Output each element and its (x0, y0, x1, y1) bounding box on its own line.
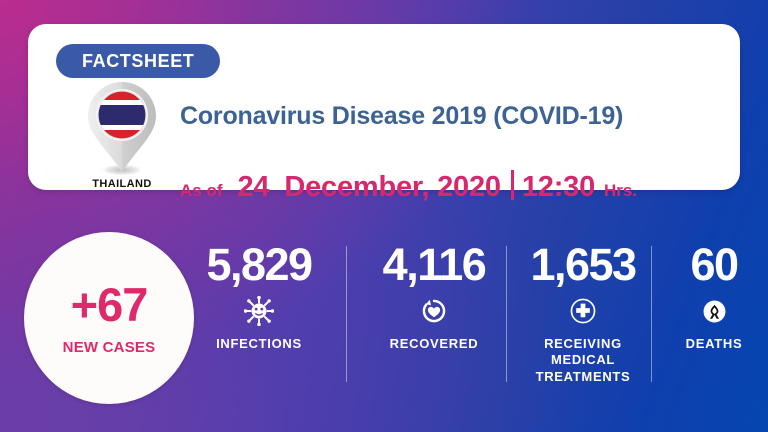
statistics-row: +67 NEW CASES 5,829 (0, 228, 768, 418)
as-of-suffix: Hrs. (604, 181, 637, 201)
stat-infections-label: INFECTIONS (216, 336, 302, 352)
divider-2 (506, 246, 507, 382)
stat-deaths-value: 60 (690, 242, 737, 287)
new-cases-badge: +67 NEW CASES (24, 232, 194, 404)
as-of-prefix: As of (180, 181, 223, 201)
map-pin-shape (76, 80, 168, 180)
factsheet-infographic: FACTSHEET (0, 0, 768, 432)
stat-treatments-label: RECEIVINGMEDICALTREATMENTS (536, 336, 631, 385)
heart-recovery-icon (420, 296, 448, 326)
factsheet-badge: FACTSHEET (56, 44, 220, 78)
thailand-flag-pin-icon: THAILAND (76, 80, 168, 200)
page-title: Coronavirus Disease 2019 (COVID-19) (180, 102, 623, 131)
stat-receiving-medical-treatments: 1,653 RECEIVINGMEDICALTREATMENTS (518, 242, 648, 385)
as-of-time: 12:30 (522, 171, 595, 204)
as-of-dateline: As of 24 December, 2020 12:30 Hrs. (180, 166, 637, 204)
country-label: THAILAND (76, 178, 168, 190)
new-cases-value: +67 (71, 281, 148, 328)
stat-recovered: 4,116 RECOVERED (375, 242, 493, 352)
as-of-month-year: December, 2020 (284, 171, 500, 204)
as-of-day: 24 (238, 171, 270, 204)
medical-cross-icon (569, 296, 597, 326)
dateline-separator (511, 170, 514, 200)
stat-infections-value: 5,829 (206, 242, 311, 287)
stat-recovered-label: RECOVERED (390, 336, 479, 352)
stat-infections: 5,829 (200, 242, 318, 352)
new-cases-label: NEW CASES (63, 339, 156, 356)
mourning-ribbon-icon (701, 296, 728, 326)
header-card: FACTSHEET (28, 24, 740, 190)
stat-deaths-label: DEATHS (686, 336, 743, 352)
stat-deaths: 60 DEATHS (660, 242, 768, 352)
divider-1 (346, 246, 347, 382)
stat-treatments-value: 1,653 (530, 242, 635, 287)
virus-icon (244, 296, 274, 326)
stat-recovered-value: 4,116 (383, 242, 486, 287)
divider-3 (651, 246, 652, 382)
